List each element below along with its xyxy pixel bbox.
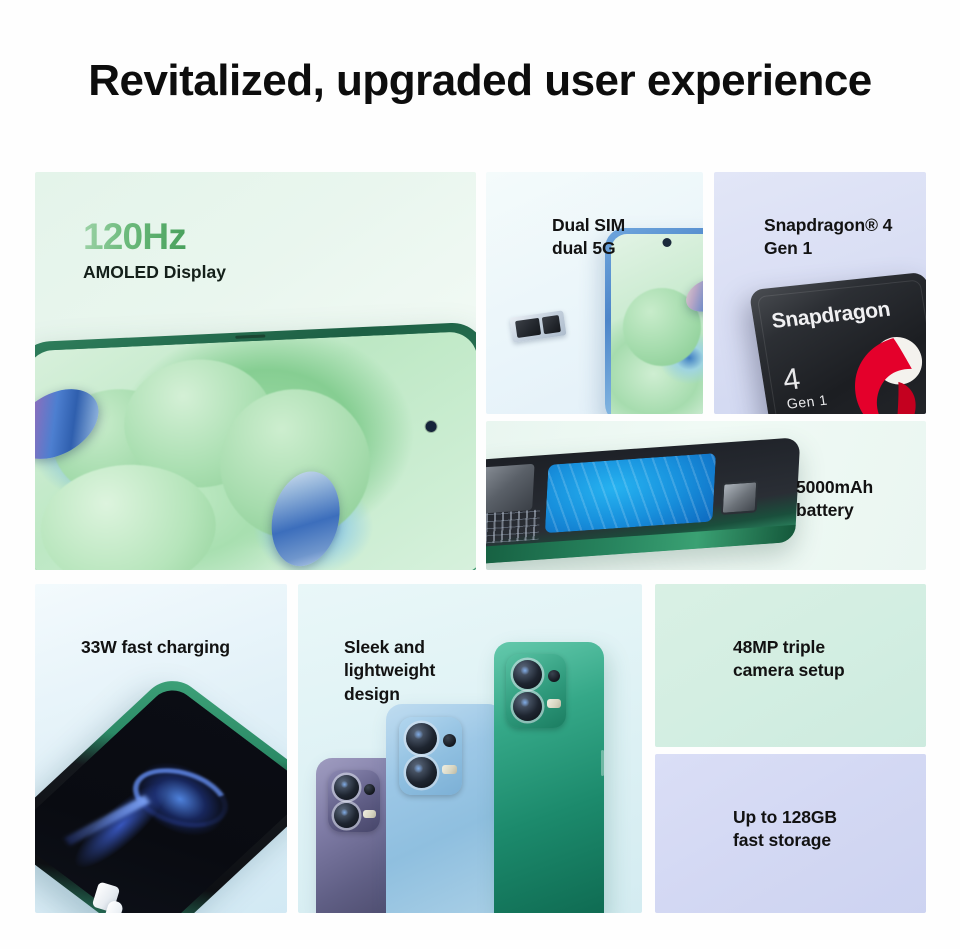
internal-component: [721, 480, 759, 515]
camera-lens: [334, 775, 359, 800]
page-title: Revitalized, upgraded user experience: [0, 57, 960, 105]
camera-lens-small: [443, 734, 456, 747]
battery-cell: [545, 453, 716, 533]
camera-lens: [406, 757, 437, 788]
camera-lens: [406, 723, 437, 754]
chip-brand-text: Snapdragon: [770, 298, 892, 334]
camera-island: [506, 654, 566, 728]
feature-card-camera[interactable]: 48MP triple camera setup: [655, 584, 926, 747]
camera-lens: [513, 692, 542, 721]
design-label: Sleek and lightweight design: [344, 636, 435, 706]
qualcomm-snapdragon-logo-icon: [833, 329, 926, 414]
phone-body: [35, 321, 476, 570]
chip-gen-label: Gen 1: [786, 392, 829, 411]
camera-flash: [363, 810, 376, 818]
punch-hole-camera: [663, 238, 672, 247]
phone-screen: [35, 683, 287, 913]
internal-component: [486, 464, 535, 514]
dual-sim-label: Dual SIM dual 5G: [552, 214, 625, 261]
camera-lens-small: [548, 670, 560, 682]
display-subtitle: AMOLED Display: [83, 262, 226, 283]
feature-card-dual-sim[interactable]: Dual SIM dual 5G: [486, 172, 703, 414]
side-button: [601, 750, 604, 776]
phone-cutaway-image: [486, 437, 800, 565]
phone-screen: [35, 331, 476, 570]
camera-lens: [513, 660, 542, 689]
display-headline: 120Hz: [83, 216, 186, 258]
charging-phone-image: [35, 671, 287, 913]
camera-lens-small: [364, 784, 375, 795]
earpiece: [235, 334, 265, 338]
camera-flash: [442, 765, 457, 774]
charging-light-beam: [65, 795, 151, 846]
camera-island: [328, 770, 380, 832]
hero-phone-image: [35, 321, 476, 570]
feature-card-fast-charging[interactable]: 33W fast charging: [35, 584, 287, 913]
feature-card-battery[interactable]: 5000mAh battery: [486, 421, 926, 570]
camera-label: 48MP triple camera setup: [733, 636, 845, 683]
feature-card-snapdragon[interactable]: Snapdragon® 4 Gen 1 Snapdragon 4 Gen 1: [714, 172, 926, 414]
feature-card-storage[interactable]: Up to 128GB fast storage: [655, 754, 926, 913]
battery-label: 5000mAh battery: [796, 476, 873, 523]
feature-card-design[interactable]: Sleek and lightweight design: [298, 584, 642, 913]
circuit-traces: [486, 509, 540, 544]
camera-flash: [547, 699, 561, 708]
storage-label: Up to 128GB fast storage: [733, 806, 837, 853]
feature-card-display[interactable]: 120Hz AMOLED Display: [35, 172, 476, 570]
phone-screen: [611, 234, 703, 414]
punch-hole-camera: [425, 421, 436, 432]
chip-gen-text: 4 Gen 1: [781, 361, 829, 411]
fast-charging-label: 33W fast charging: [81, 636, 230, 659]
sim-card: [542, 315, 561, 334]
camera-island: [399, 717, 462, 795]
phone-back-blue: [386, 704, 504, 913]
camera-lens: [334, 803, 359, 828]
chip-gen-number: 4: [781, 363, 803, 397]
sim-tray-icon: [510, 310, 567, 342]
snapdragon-label: Snapdragon® 4 Gen 1: [764, 214, 892, 261]
phone-back-green: [494, 642, 604, 913]
product-feature-page: Revitalized, upgraded user experience 12…: [0, 0, 960, 949]
sim-card: [515, 318, 541, 338]
snapdragon-chip-image: Snapdragon 4 Gen 1: [749, 272, 926, 414]
